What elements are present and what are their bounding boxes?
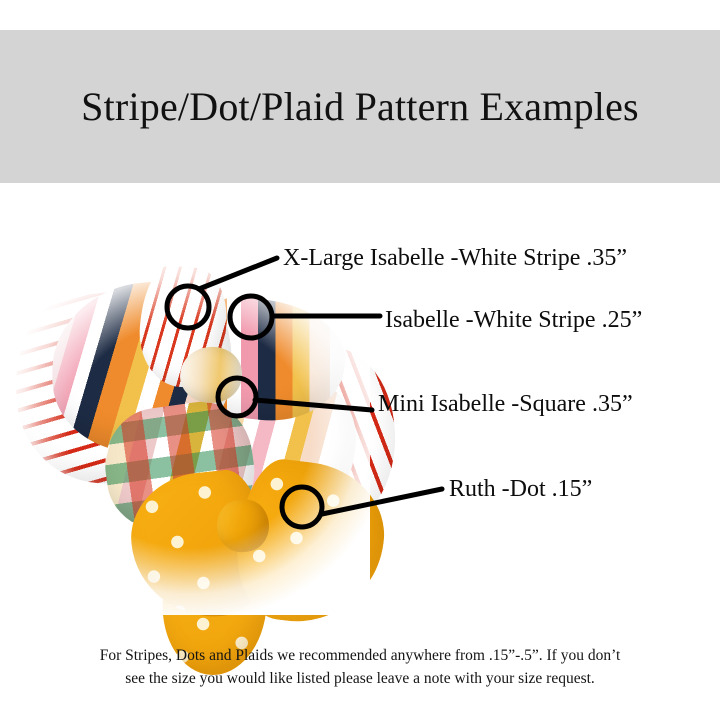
callout-label-isabelle: Isabelle -White Stripe .25” xyxy=(385,308,642,332)
callout-label-ruth: Ruth -Dot .15” xyxy=(449,477,592,501)
footer-note: For Stripes, Dots and Plaids we recommen… xyxy=(40,644,680,691)
hair-bow-collection-photo xyxy=(10,255,370,615)
page-root: Stripe/Dot/Plaid Pattern Examples X-Larg… xyxy=(0,0,720,720)
page-title: Stripe/Dot/Plaid Pattern Examples xyxy=(0,30,720,183)
callout-label-mini-isabelle: Mini Isabelle -Square .35” xyxy=(378,392,633,416)
footer-note-line-1: For Stripes, Dots and Plaids we recommen… xyxy=(40,644,680,667)
callout-label-xlarge-isabelle: X-Large Isabelle -White Stripe .35” xyxy=(283,246,627,270)
footer-note-line-2: see the size you would like listed pleas… xyxy=(40,667,680,690)
